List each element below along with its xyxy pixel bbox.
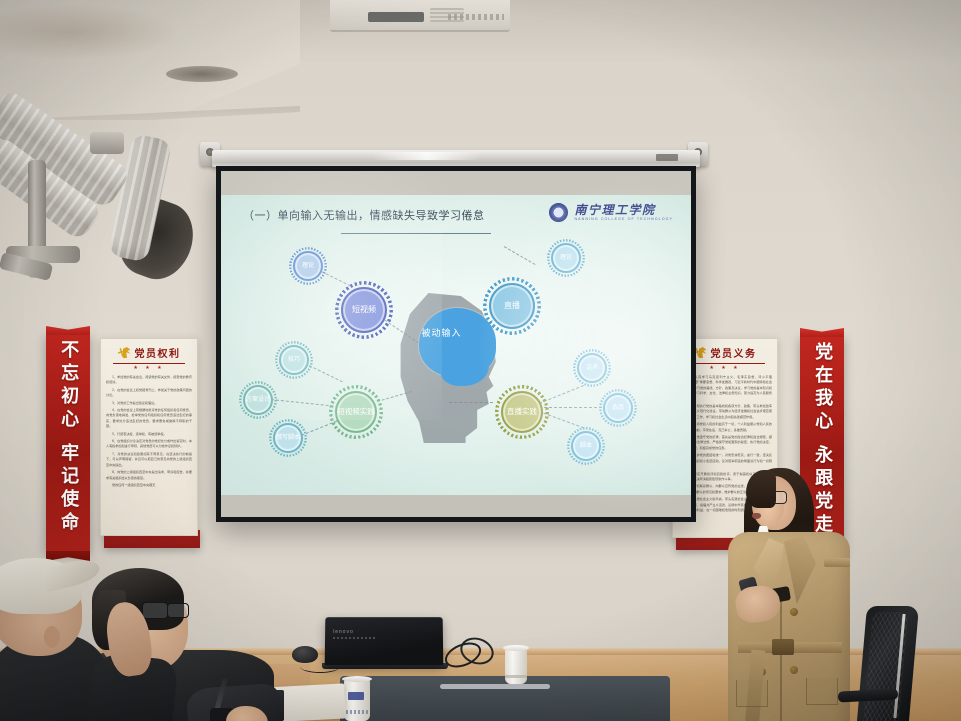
node-live: 直播 <box>489 283 535 329</box>
coat-button <box>790 608 798 616</box>
coat-shoulder-tab <box>824 558 850 567</box>
node-label: 撰写脚本 <box>274 435 302 441</box>
screen-surface: （一）单向输入无输出，情感缺失导致学习倦怠 南宁理工学院 NANNING COL… <box>221 171 691 517</box>
poster-paragraph: 5、行使表决权、选举权，有被选举权。 <box>106 432 192 437</box>
poster-paragraph: 党的任何一级组织直至中央都无 <box>106 483 192 488</box>
presenter-hair-front <box>746 470 776 508</box>
party-rights-panel: 党员权利 ★ ★ ★ 1、参加党的有关会议，阅读党的有关文件，接受党的教育和培训… <box>100 338 198 536</box>
node-write-script: 撰写脚本 <box>273 423 303 453</box>
presentation-slide: （一）单向输入无输出，情感缺失导致学习倦怠 南宁理工学院 NANNING COL… <box>221 195 691 495</box>
slogan-banner-left: 不忘初心 牢记使命 <box>46 334 90 552</box>
ceiling-stain <box>0 4 180 60</box>
coat-pocket <box>806 678 838 705</box>
eyeglasses-icon <box>142 602 188 618</box>
presenter-trench-coat <box>728 532 850 721</box>
poster-paragraph: 2、在党的会议上和党报党刊上，参加关于党的政策问题的讨论。 <box>106 388 192 399</box>
university-seal-icon <box>549 203 568 222</box>
coat-placket <box>780 596 782 721</box>
laptop-brand-label: lenovo <box>333 629 354 635</box>
node-label: 理论 <box>300 263 316 269</box>
link-line <box>504 246 536 265</box>
cup-rim <box>503 645 529 651</box>
poster-paragraph: 7、对党的决议和政策如有不同意见，在坚决执行的前提下，可以声明保留，并且可以把自… <box>106 452 192 468</box>
node-theory-right: 理论 <box>551 243 581 273</box>
housing-highlight <box>372 152 482 160</box>
cup-text <box>346 710 368 714</box>
node-script: 脚本 <box>571 431 601 461</box>
party-duties-title: 党员义务 <box>711 345 757 360</box>
node-label: 直播实践 <box>505 408 539 416</box>
laptop-brand-underline <box>333 637 377 639</box>
slide-title: （一）单向输入无输出，情感缺失导致学习倦怠 <box>243 207 485 223</box>
slogan-banner-left-text: 不忘初心 牢记使命 <box>56 340 80 535</box>
poster-paragraph: 8、向党的上级组织直至中央提出请求、申诉和控告，并要求有关组织给以负责的答复。 <box>106 470 192 481</box>
node-short-video-practice: 短视频实践 <box>335 391 377 433</box>
node-label: 方案设计 <box>244 397 272 403</box>
title-underline <box>341 233 491 234</box>
party-rights-title: 党员权利 <box>135 345 181 360</box>
poster-paragraph: 1、参加党的有关会议，阅读党的有关文件，接受党的教育和培训。 <box>106 375 192 386</box>
node-label: 话术 <box>584 365 600 371</box>
laptop[interactable]: lenovo <box>325 617 444 665</box>
node-theory-left: 理论 <box>293 251 323 281</box>
node-label: 选品 <box>610 405 626 411</box>
node-talk: 话术 <box>577 353 607 383</box>
person-cap-ear <box>44 626 60 648</box>
link-line <box>271 399 339 407</box>
cup-logo-icon <box>348 692 364 700</box>
presenter-mouth <box>752 513 761 519</box>
poster-paragraph: 4、在党的会议上有根据地批评党的任何组织和任何党员，向党负责地揭发、检举党的任何… <box>106 408 192 430</box>
node-plan-design: 方案设计 <box>243 385 273 415</box>
office-chair-back[interactable] <box>857 606 919 721</box>
coat-button <box>790 666 798 674</box>
node-label: 短视频 <box>350 306 378 314</box>
node-label: 理论 <box>558 255 574 261</box>
node-label: 脚本 <box>578 443 594 449</box>
node-label: 短视频实践 <box>335 408 377 416</box>
cable-coil <box>444 638 490 664</box>
university-logo: 南宁理工学院 NANNING COLLEGE OF TECHNOLOGY <box>549 203 673 222</box>
coat-pocket <box>736 680 768 707</box>
mouse-cable <box>300 660 340 673</box>
duct-collar <box>90 132 124 154</box>
party-rights-header: 党员权利 <box>101 339 197 360</box>
coat-belt-buckle <box>772 639 794 655</box>
divider <box>685 363 764 364</box>
ceiling-ac-unit <box>330 0 510 32</box>
ceiling-duct-port <box>166 66 238 82</box>
node-selection: 选品 <box>603 393 633 423</box>
party-emblem-icon <box>118 347 131 358</box>
divider <box>113 363 186 364</box>
ac-label <box>448 14 504 20</box>
paper-cup[interactable] <box>505 648 527 684</box>
cup-band <box>505 675 527 678</box>
poster-paragraph: 3、对党的工作提出建议和倡议。 <box>106 401 192 406</box>
node-short-video: 短视频 <box>341 287 387 333</box>
mat-strip <box>440 684 550 689</box>
node-label: 直播 <box>502 302 522 310</box>
projector-screen: （一）单向输入无输出，情感缺失导致学习倦怠 南宁理工学院 NANNING COL… <box>216 166 696 522</box>
university-name-en: NANNING COLLEGE OF TECHNOLOGY <box>574 218 673 222</box>
node-live-practice: 直播实践 <box>501 391 543 433</box>
party-rights-body: 1、参加党的有关会议，阅读党的有关文件，接受党的教育和培训。 2、在党的会议上和… <box>101 371 197 488</box>
node-skills: 技巧 <box>279 345 309 375</box>
desk-mat <box>340 676 670 721</box>
ac-grill-icon <box>368 12 424 22</box>
university-name-cn: 南宁理工学院 <box>574 204 673 216</box>
cup-rim <box>342 676 372 682</box>
node-label: 技巧 <box>286 357 302 363</box>
link-line <box>539 407 607 408</box>
housing-brand-badge <box>656 154 678 161</box>
paper-cup[interactable] <box>344 679 370 721</box>
projector-screen-housing <box>212 150 700 167</box>
meeting-room-photo: 党员权利 ★ ★ ★ 1、参加党的有关会议，阅读党的有关文件，接受党的教育和培训… <box>0 0 961 721</box>
poster-paragraph: 6、在党组织讨论决定对党员的党纪处分或作出鉴定时，本人有权参加和进行申辩，其他党… <box>106 439 192 450</box>
